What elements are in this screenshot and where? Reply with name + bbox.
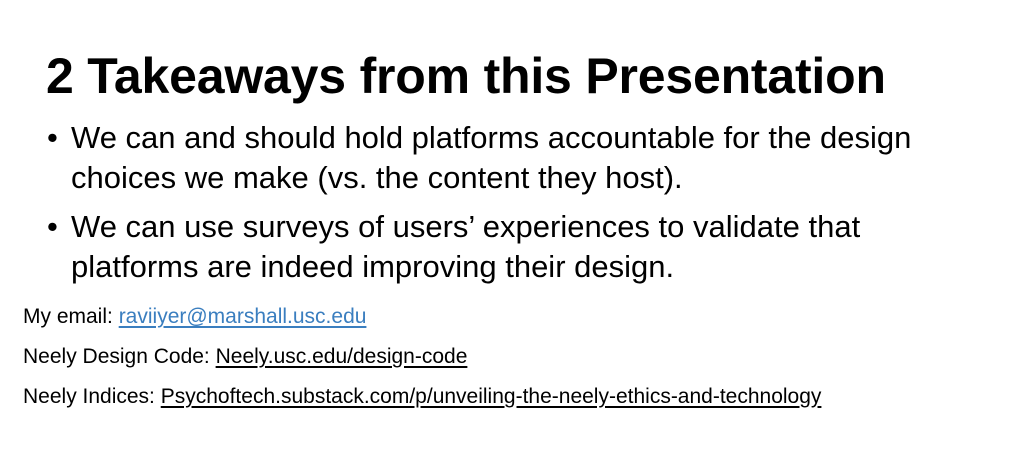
design-code-link[interactable]: Neely.usc.edu/design-code bbox=[216, 345, 468, 368]
contact-line-design-code: Neely Design Code: Neely.usc.edu/design-… bbox=[23, 346, 1003, 367]
contact-label-neely-indices: Neely Indices: bbox=[23, 385, 161, 408]
list-item: • We can use surveys of users’ experienc… bbox=[44, 207, 994, 286]
contact-label-email: My email: bbox=[23, 305, 119, 328]
list-item-text: We can use surveys of users’ experiences… bbox=[71, 207, 994, 286]
email-link[interactable]: raviiyer@marshall.usc.edu bbox=[119, 305, 367, 328]
neely-indices-link[interactable]: Psychoftech.substack.com/p/unveiling-the… bbox=[161, 385, 822, 408]
contact-line-email: My email: raviiyer@marshall.usc.edu bbox=[23, 306, 1003, 327]
bullet-point-icon: • bbox=[47, 118, 58, 158]
bullet-point-icon: • bbox=[47, 207, 58, 247]
page-title: 2 Takeaways from this Presentation bbox=[46, 48, 986, 104]
list-item: • We can and should hold platforms accou… bbox=[44, 118, 994, 197]
contact-links-block: My email: raviiyer@marshall.usc.edu Neel… bbox=[23, 306, 1003, 407]
list-item-text: We can and should hold platforms account… bbox=[71, 118, 994, 197]
presentation-slide: 2 Takeaways from this Presentation • We … bbox=[0, 0, 1023, 450]
contact-label-design-code: Neely Design Code: bbox=[23, 345, 216, 368]
takeaways-bullet-list: • We can and should hold platforms accou… bbox=[44, 118, 994, 287]
contact-line-neely-indices: Neely Indices: Psychoftech.substack.com/… bbox=[23, 386, 1003, 407]
